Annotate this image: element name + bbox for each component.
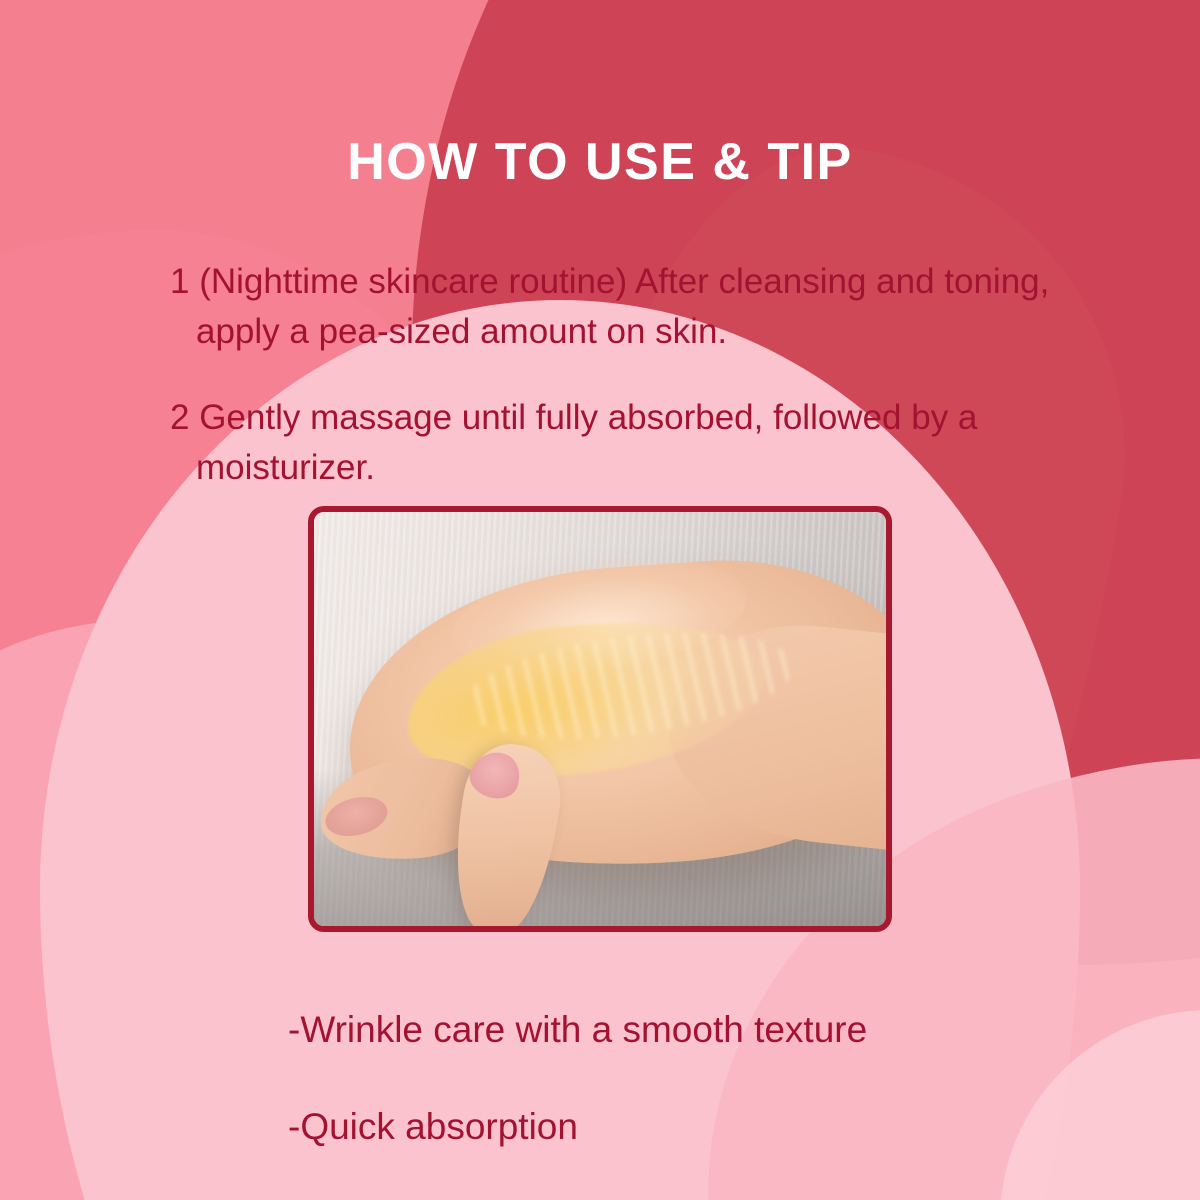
benefits-list: -Wrinkle care with a smooth texture -Qui… bbox=[288, 963, 1128, 1194]
how-to-use-poster: HOW TO USE & TIP 1 (Nighttime skincare r… bbox=[0, 0, 1200, 1200]
page-title: HOW TO USE & TIP bbox=[0, 135, 1200, 190]
photo-inner bbox=[314, 512, 886, 926]
benefit-item-1: -Wrinkle care with a smooth texture bbox=[288, 1000, 1128, 1060]
usage-step-1: 1 (Nighttime skincare routine) After cle… bbox=[170, 257, 1100, 358]
usage-steps-list: 1 (Nighttime skincare routine) After cle… bbox=[170, 222, 1100, 508]
usage-step-2: 2 Gently massage until fully absorbed, f… bbox=[170, 393, 1100, 494]
product-demo-photo bbox=[308, 506, 892, 932]
poster-content: HOW TO USE & TIP 1 (Nighttime skincare r… bbox=[0, 0, 1200, 1200]
benefit-item-2: -Quick absorption bbox=[288, 1097, 1128, 1157]
